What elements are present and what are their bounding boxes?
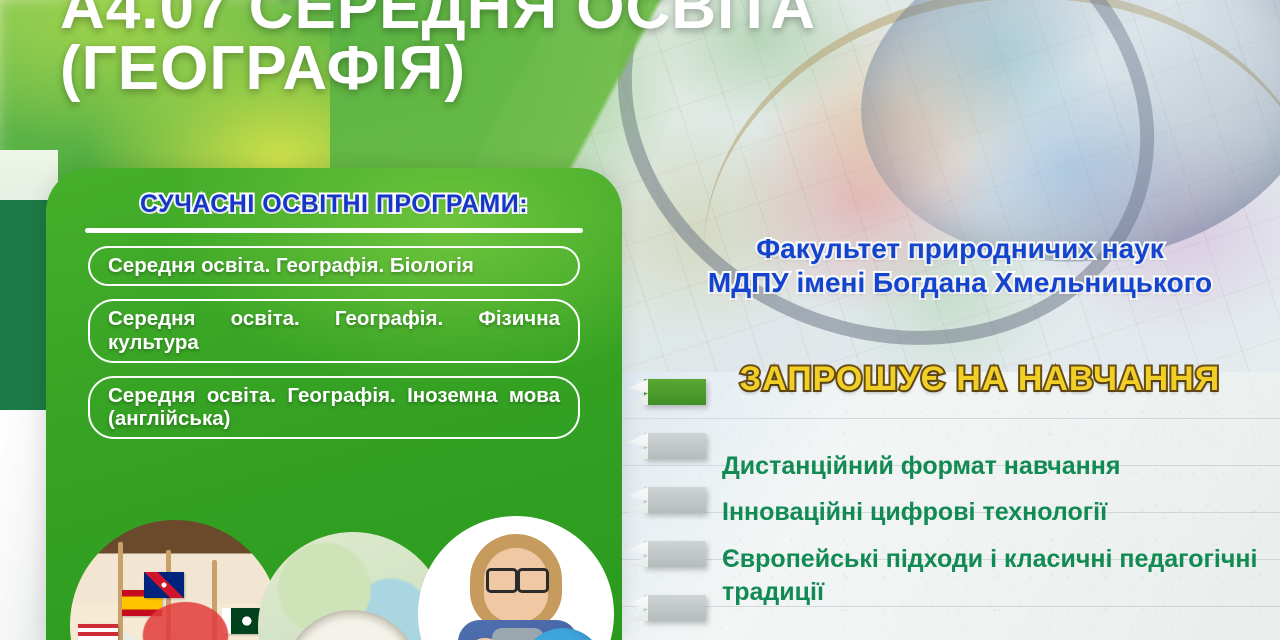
tab-notch-icon bbox=[628, 487, 648, 513]
notebook-tabs-group bbox=[626, 375, 702, 640]
program-item-2[interactable]: Середня освіта. Географія. Фізична культ… bbox=[88, 299, 580, 363]
pakistan-flag-icon bbox=[222, 608, 262, 634]
woman-with-globe-photo bbox=[418, 516, 614, 640]
glasses-right-lens-icon bbox=[517, 568, 549, 593]
faculty-line-1: Факультет природничих наук bbox=[756, 233, 1164, 264]
uk-flag-icon bbox=[144, 572, 184, 598]
faculty-name: Факультет природничих наук МДПУ імені Бо… bbox=[640, 232, 1280, 299]
notebook-tab-1 bbox=[644, 379, 706, 405]
feature-item-3: Європейські підходи і класичні педагогіч… bbox=[722, 543, 1267, 610]
glasses-left-lens-icon bbox=[486, 568, 518, 593]
programs-card-title: СУЧАСНІ ОСВІТНІ ПРОГРАМИ: bbox=[46, 190, 622, 219]
page-title-line-2: (ГЕОГРАФІЯ) bbox=[60, 39, 1120, 100]
faculty-line-2: МДПУ імені Богдана Хмельницького bbox=[708, 267, 1212, 298]
flags-on-map-photo bbox=[70, 520, 280, 640]
flag-pole-icon bbox=[166, 550, 171, 640]
compass-ticks bbox=[294, 620, 410, 640]
tab-notch-icon bbox=[628, 379, 648, 405]
program-item-2-label: Середня освіта. Географія. Фізична культ… bbox=[108, 307, 560, 355]
notebook-tab-2 bbox=[644, 433, 706, 459]
feature-item-2: Інноваційні цифрові технології bbox=[722, 496, 1267, 529]
program-item-1[interactable]: Середня освіта. Географія. Біологія bbox=[88, 246, 580, 286]
notebook-tab-3 bbox=[644, 487, 706, 513]
program-item-3[interactable]: Середня освіта. Географія. Іноземна мова… bbox=[88, 376, 580, 440]
usa-flag-icon bbox=[78, 624, 118, 640]
compass-icon bbox=[284, 610, 420, 640]
poster-canvas: СУЧАСНІ ОСВІТНІ ПРОГРАМИ: Середня освіта… bbox=[0, 0, 1280, 640]
program-item-1-label: Середня освіта. Географія. Біологія bbox=[108, 254, 560, 278]
feature-item-1: Дистанційний формат навчання bbox=[722, 450, 1267, 483]
photo-strip bbox=[46, 512, 622, 640]
title-underline-rule bbox=[85, 228, 583, 233]
tab-notch-icon bbox=[628, 433, 648, 459]
features-list: Дистанційний формат навчання Інноваційні… bbox=[722, 450, 1267, 622]
notebook-tab-4 bbox=[644, 541, 706, 567]
flag-pole-icon bbox=[212, 560, 217, 640]
page-title: А4.07 СЕРЕДНЯ ОСВІТА (ГЕОГРАФІЯ) bbox=[60, 0, 1120, 100]
notebook-tab-5 bbox=[644, 595, 706, 621]
spain-flag-icon bbox=[122, 590, 162, 616]
program-item-3-label: Середня освіта. Географія. Іноземна мова… bbox=[108, 384, 560, 432]
tab-notch-icon bbox=[628, 595, 648, 621]
tab-notch-icon bbox=[628, 541, 648, 567]
invitation-banner: ЗАПРОШУЄ НА НАВЧАННЯ bbox=[700, 360, 1260, 399]
flag-pole-icon bbox=[118, 542, 123, 640]
